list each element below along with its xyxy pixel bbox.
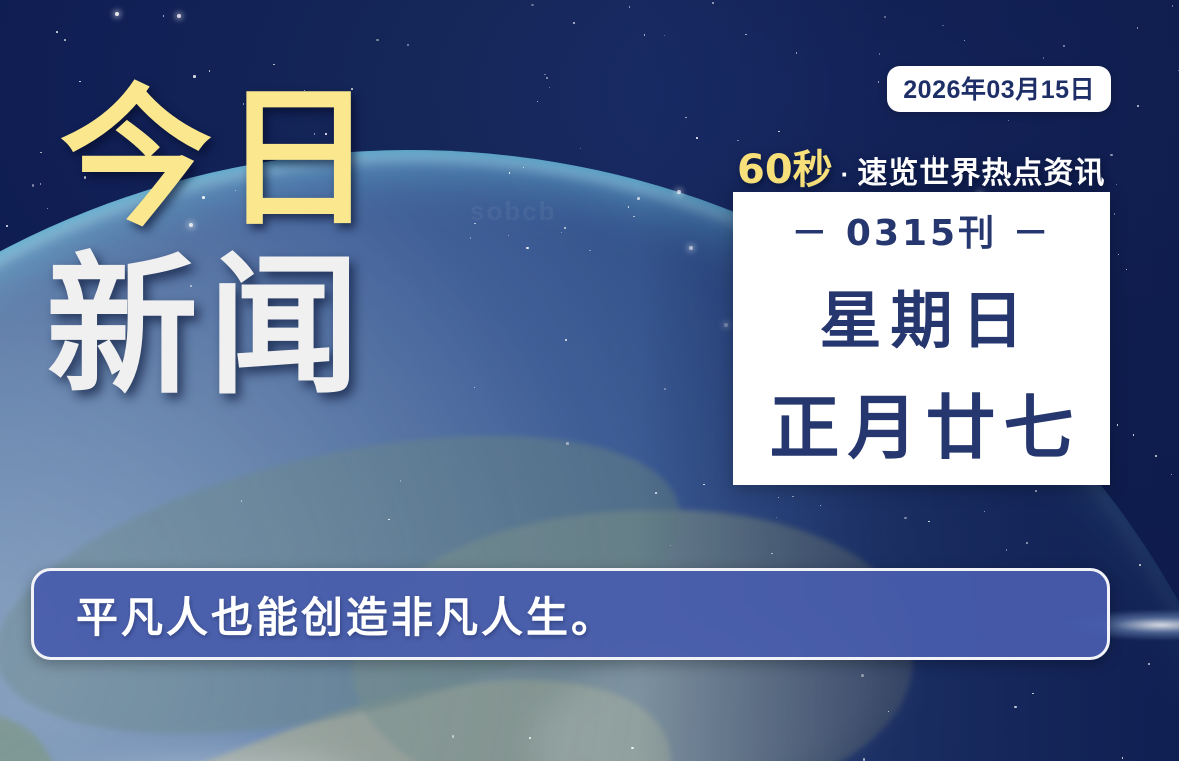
- background-watermark: sobcb: [470, 196, 557, 227]
- news-poster: sobcb 今日 新闻 2026年03月15日 60秒 · 速览世界热点资讯 －…: [0, 0, 1179, 761]
- date-badge: 2026年03月15日: [887, 66, 1111, 112]
- poster-title: 今日 新闻: [46, 86, 384, 400]
- issue-number: － 0315刊 －: [791, 204, 1051, 256]
- lunar-date-label: 正月廿七: [762, 372, 1082, 473]
- poster-title-line-1: 今日: [60, 86, 384, 232]
- poster-title-line-2: 新闻: [46, 254, 384, 400]
- tagline-duration: 60秒: [737, 137, 833, 195]
- quote-text: 平凡人也能创造非凡人生。: [76, 584, 616, 645]
- tagline: 60秒 · 速览世界热点资讯: [737, 137, 1105, 195]
- tagline-description: 速览世界热点资讯: [857, 148, 1105, 192]
- date-info-card: － 0315刊 － 星期日 正月廿七: [733, 192, 1110, 485]
- weekday-label: 星期日: [810, 270, 1032, 360]
- tagline-separator-icon: ·: [839, 159, 852, 190]
- quote-banner: 平凡人也能创造非凡人生。: [31, 568, 1110, 660]
